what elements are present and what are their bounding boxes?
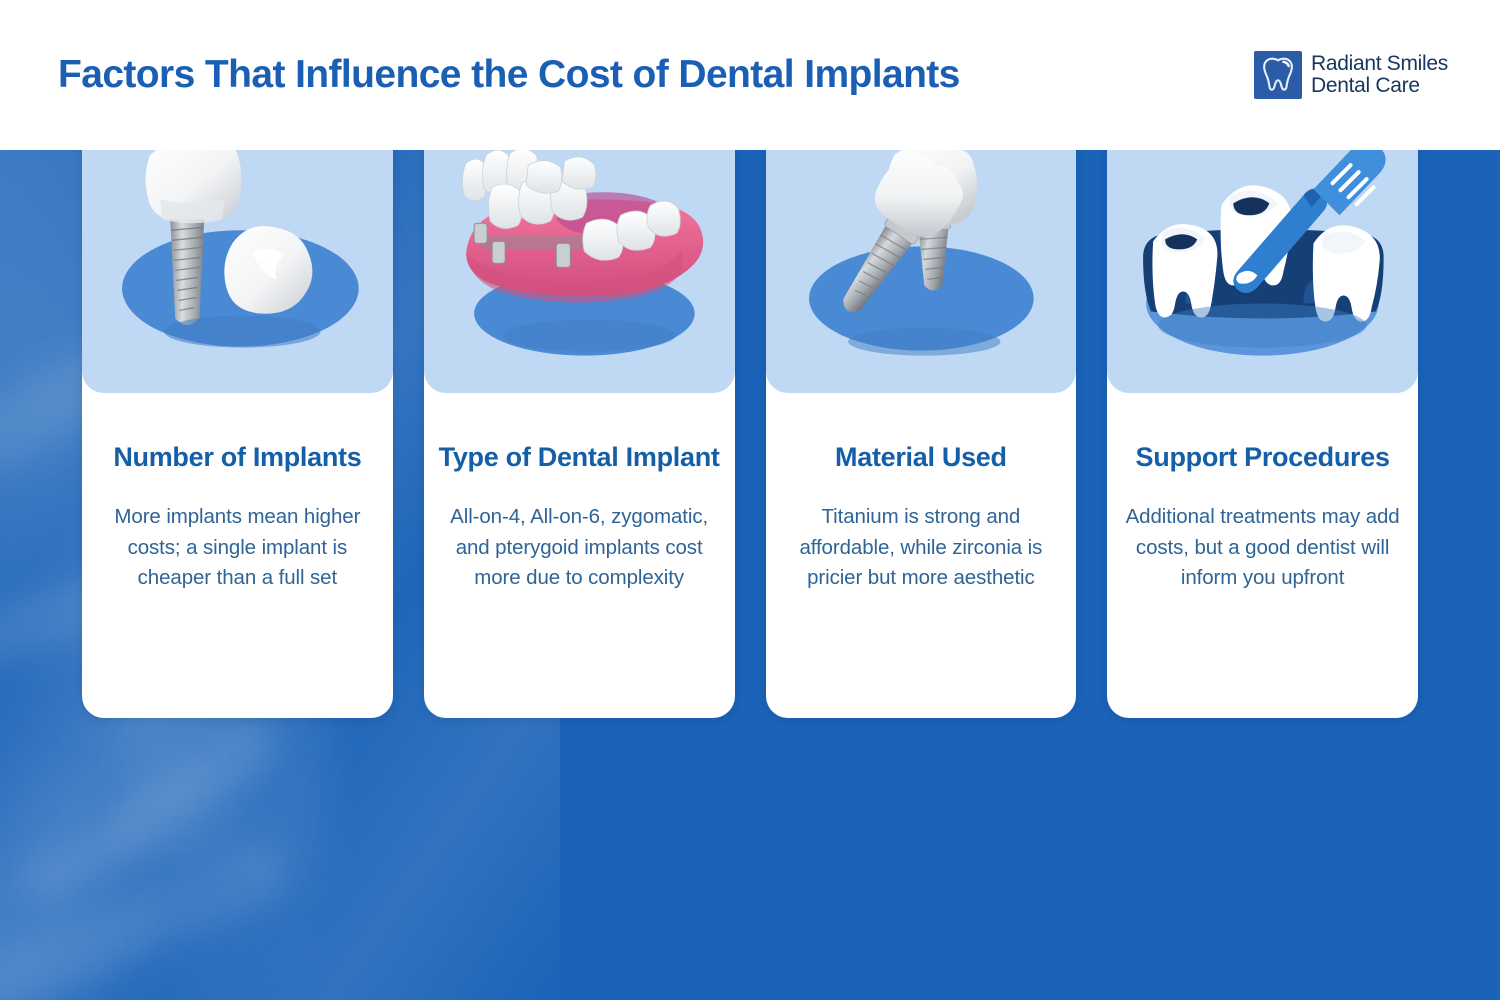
page-title: Factors That Influence the Cost of Denta… (58, 54, 960, 97)
factor-card-material-used[interactable]: Material Used Titanium is strong and aff… (766, 103, 1077, 718)
card-title: Type of Dental Implant (438, 441, 721, 474)
card-title: Number of Implants (96, 441, 379, 474)
factor-card-support-procedures[interactable]: Support Procedures Additional treatments… (1107, 103, 1418, 718)
infographic-root: Factors That Influence the Cost of Denta… (0, 0, 1500, 1000)
card-text-block: Type of Dental Implant All-on-4, All-on-… (424, 393, 735, 718)
tooth-icon (1254, 51, 1302, 99)
card-description: Titanium is strong and affordable, while… (780, 502, 1063, 594)
card-description: All-on-4, All-on-6, zygomatic, and ptery… (438, 502, 721, 594)
card-text-block: Support Procedures Additional treatments… (1107, 393, 1418, 718)
card-title: Material Used (780, 441, 1063, 474)
card-description: More implants mean higher costs; a singl… (96, 502, 379, 594)
logo-wordmark: Radiant Smiles Dental Care (1311, 53, 1448, 97)
logo-line-2: Dental Care (1311, 75, 1448, 97)
factor-card-type-of-dental-implant[interactable]: Type of Dental Implant All-on-4, All-on-… (424, 103, 735, 718)
brand-logo: Radiant Smiles Dental Care (1254, 51, 1448, 99)
card-description: Additional treatments may add costs, but… (1121, 502, 1404, 594)
card-text-block: Number of Implants More implants mean hi… (82, 393, 393, 718)
logo-line-1: Radiant Smiles (1311, 53, 1448, 75)
factor-cards-row: Number of Implants More implants mean hi… (82, 103, 1418, 718)
card-text-block: Material Used Titanium is strong and aff… (766, 393, 1077, 718)
factor-card-number-of-implants[interactable]: Number of Implants More implants mean hi… (82, 103, 393, 718)
card-title: Support Procedures (1121, 441, 1404, 474)
header-bar: Factors That Influence the Cost of Denta… (0, 0, 1500, 150)
